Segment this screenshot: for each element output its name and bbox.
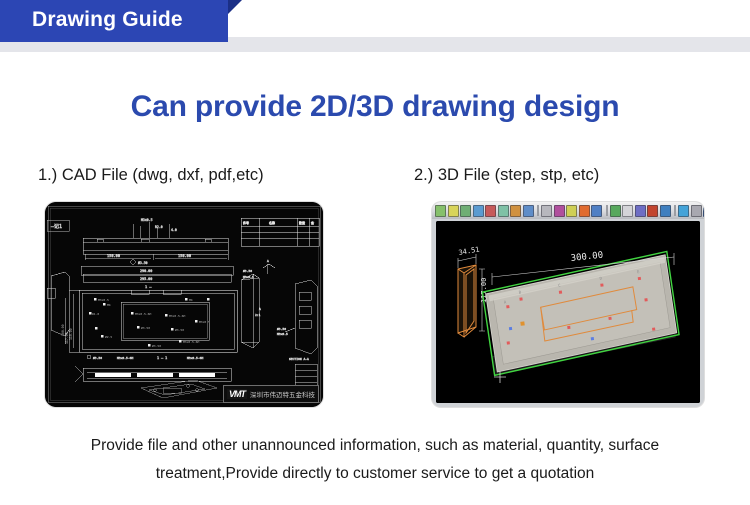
3d-viewport: 34.51 117.00 [436, 221, 700, 403]
toolbar-icon-21[interactable] [703, 205, 704, 217]
svg-text:备: 备 [311, 220, 314, 225]
drawing-guide-banner: Drawing Guide [0, 0, 228, 42]
svg-text:M3x0.5: M3x0.5 [141, 218, 153, 222]
toolbar-icon-9[interactable] [541, 205, 552, 217]
svg-text:M3x0.5-6H: M3x0.5-6H [169, 314, 185, 318]
svg-text:M3x0.5-6H: M3x0.5-6H [117, 356, 133, 360]
svg-text:Ø3.50: Ø3.50 [152, 343, 161, 348]
svg-text:110.00: 110.00 [69, 328, 73, 340]
vmt-company-name: 深圳市伟迈特五金科技 [250, 389, 315, 399]
svg-text:4.0: 4.0 [171, 228, 177, 232]
toolbar-icon-18[interactable] [660, 205, 671, 217]
svg-text:数量: 数量 [299, 220, 305, 225]
toolbar-icon-8[interactable] [523, 205, 534, 217]
vmt-logo-mark: VMT [227, 389, 247, 399]
toolbar-icon-12[interactable] [579, 205, 590, 217]
svg-text:M3x0.5: M3x0.5 [199, 320, 210, 324]
svg-text:Ø3.50: Ø3.50 [93, 355, 102, 360]
vmt-watermark: VMT 深圳市伟迈特五金科技 [223, 385, 319, 403]
svg-text:290.00: 290.00 [140, 269, 152, 273]
toolbar-separator [606, 205, 608, 216]
footer-note: Provide file and other unannounced infor… [45, 432, 705, 488]
svg-text:2:1: 2:1 [255, 313, 261, 317]
footer-note-line2: treatment,Provide directly to customer s… [45, 460, 705, 488]
svg-text:Ø3.50: Ø3.50 [141, 325, 150, 330]
svg-text:Ø3.50: Ø3.50 [277, 326, 286, 331]
toolbar-icon-16[interactable] [635, 205, 646, 217]
svg-text:Ø2.5: Ø2.5 [105, 334, 112, 339]
section-label-cad-file: 1.) CAD File (dwg, dxf, pdf,etc) [38, 166, 264, 185]
cad-drawing-figure: —记1 150.00 150.00 M3x0.5 R2.0 4.0 Ø3.50 [45, 202, 323, 407]
svg-text:A: A [259, 307, 261, 311]
svg-text:M3x0.5: M3x0.5 [98, 298, 109, 302]
toolbar-icon-15[interactable] [622, 205, 633, 217]
toolbar-icon-13[interactable] [591, 205, 602, 217]
svg-text:名称: 名称 [269, 220, 275, 225]
svg-text:M3x0.5-6H: M3x0.5-6H [183, 340, 199, 344]
svg-text:Ø3.50: Ø3.50 [138, 260, 148, 265]
svg-text:M3x0.5: M3x0.5 [243, 275, 254, 279]
svg-text:Ø3.50: Ø3.50 [243, 268, 252, 273]
banner-fold-corner [228, 0, 242, 14]
3d-model-figure: 34.51 117.00 [432, 202, 704, 407]
toolbar-icon-4[interactable] [473, 205, 484, 217]
svg-text:件号: 件号 [243, 220, 249, 225]
svg-text:—记1: —记1 [51, 223, 62, 230]
cad-canvas: —记1 150.00 150.00 M3x0.5 R2.0 4.0 Ø3.50 [45, 202, 323, 407]
banner-label: Drawing Guide [32, 8, 183, 32]
svg-text:A: A [267, 259, 269, 263]
cad-viewer-toolbar[interactable] [432, 202, 704, 219]
svg-text:M3x0.5-6H: M3x0.5-6H [187, 356, 203, 360]
section-label-3d-file: 2.) 3D File (step, stp, etc) [414, 166, 599, 185]
page-title: Can provide 2D/3D drawing design [0, 90, 750, 124]
svg-text:M3x0.5-6H: M3x0.5-6H [135, 312, 151, 316]
svg-text:M4: M4 [189, 298, 193, 302]
toolbar-icon-5[interactable] [485, 205, 496, 217]
svg-text:M3x0.5: M3x0.5 [277, 332, 288, 336]
toolbar-icon-3[interactable] [460, 205, 471, 217]
toolbar-icon-2[interactable] [448, 205, 459, 217]
toolbar-icon-6[interactable] [498, 205, 509, 217]
svg-text:SECTION A-A: SECTION A-A [289, 357, 309, 361]
toolbar-icon-1[interactable] [435, 205, 446, 217]
svg-text:100.00: 100.00 [61, 324, 65, 336]
toolbar-icon-14[interactable] [610, 205, 621, 217]
footer-note-line1: Provide file and other unannounced infor… [45, 432, 705, 460]
toolbar-icon-7[interactable] [510, 205, 521, 217]
svg-text:R2.0: R2.0 [155, 225, 163, 229]
toolbar-separator [674, 205, 676, 216]
toolbar-icon-20[interactable] [691, 205, 702, 217]
svg-text:R1.0: R1.0 [92, 312, 99, 316]
svg-text:M4: M4 [107, 303, 111, 307]
toolbar-icon-10[interactable] [554, 205, 565, 217]
toolbar-icon-11[interactable] [566, 205, 577, 217]
svg-text:295.00: 295.00 [140, 277, 152, 281]
svg-text:Ø3.50: Ø3.50 [175, 327, 184, 332]
toolbar-icon-19[interactable] [678, 205, 689, 217]
toolbar-separator [537, 205, 539, 216]
svg-text:150.00: 150.00 [178, 254, 191, 258]
svg-text:1 —: 1 — [145, 285, 152, 289]
svg-text:1 — 1: 1 — 1 [157, 356, 167, 360]
toolbar-icon-17[interactable] [647, 205, 658, 217]
svg-text:150.00: 150.00 [107, 254, 120, 258]
